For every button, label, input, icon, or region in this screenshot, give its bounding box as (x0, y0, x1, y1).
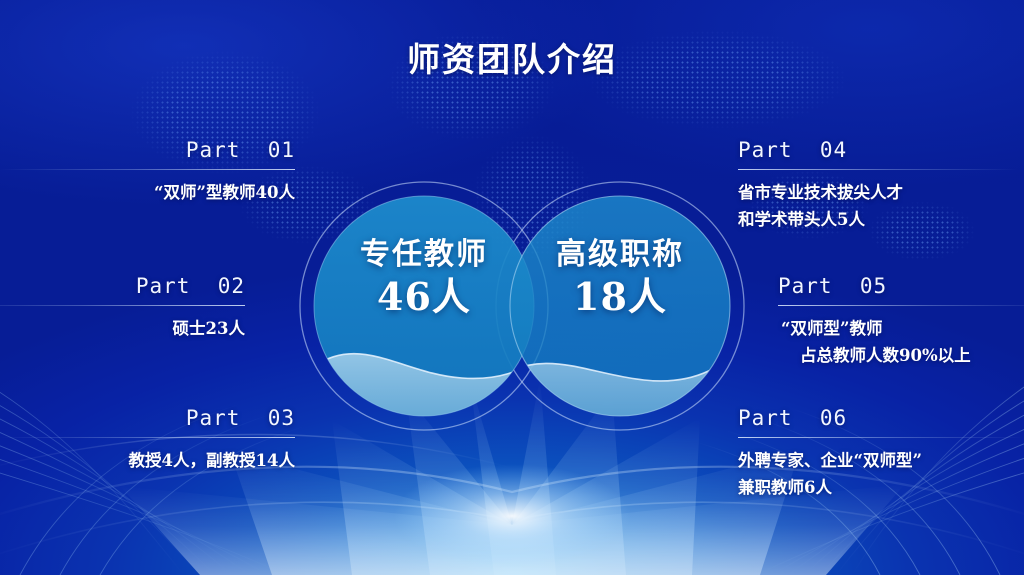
part-text-04-line-2: 和学术带头人5人 (738, 206, 1018, 233)
part-text-01-line-1: “双师”型教师40人 (0, 179, 295, 206)
venn-diagram: 专任教师 46人 高级职称 18人 (296, 178, 748, 434)
part-rule-06 (738, 437, 1023, 438)
part-block-06[interactable]: Part 06 外聘专家、企业“双师型” 兼职教师6人 (738, 406, 1023, 501)
part-block-01[interactable]: Part 01 “双师”型教师40人 (0, 138, 295, 206)
part-text-06-line-2: 兼职教师6人 (738, 474, 1023, 501)
part-text-05-line-2: 占总教师人数90%以上 (778, 342, 1024, 369)
part-block-04[interactable]: Part 04 省市专业技术拔尖人才 和学术带头人5人 (738, 138, 1018, 233)
slide-canvas: 师资团队介绍 (0, 0, 1024, 575)
part-text-03-line-1: 教授4人，副教授14人 (0, 447, 295, 474)
part-label-05: Part 05 (778, 274, 1024, 298)
part-label-02: Part 02 (0, 274, 245, 298)
part-text-06-line-1: 外聘专家、企业“双师型” (738, 447, 1023, 474)
part-block-03[interactable]: Part 03 教授4人，副教授14人 (0, 406, 295, 474)
part-block-02[interactable]: Part 02 硕士23人 (0, 274, 245, 342)
part-label-06: Part 06 (738, 406, 1023, 430)
part-label-01: Part 01 (0, 138, 295, 162)
part-text-05-line-1: “双师型”教师 (778, 315, 1024, 342)
venn-graphic (296, 178, 748, 434)
part-label-03: Part 03 (0, 406, 295, 430)
part-rule-01 (0, 169, 295, 170)
part-rule-03 (0, 437, 295, 438)
part-block-05[interactable]: Part 05 “双师型”教师 占总教师人数90%以上 (778, 274, 1024, 369)
part-rule-02 (0, 305, 245, 306)
slide-title: 师资团队介绍 (0, 33, 1024, 81)
part-label-04: Part 04 (738, 138, 1018, 162)
part-text-02-line-1: 硕士23人 (0, 315, 245, 342)
part-rule-05 (778, 305, 1024, 306)
part-text-04-line-1: 省市专业技术拔尖人才 (738, 179, 1018, 206)
part-rule-04 (738, 169, 1018, 170)
